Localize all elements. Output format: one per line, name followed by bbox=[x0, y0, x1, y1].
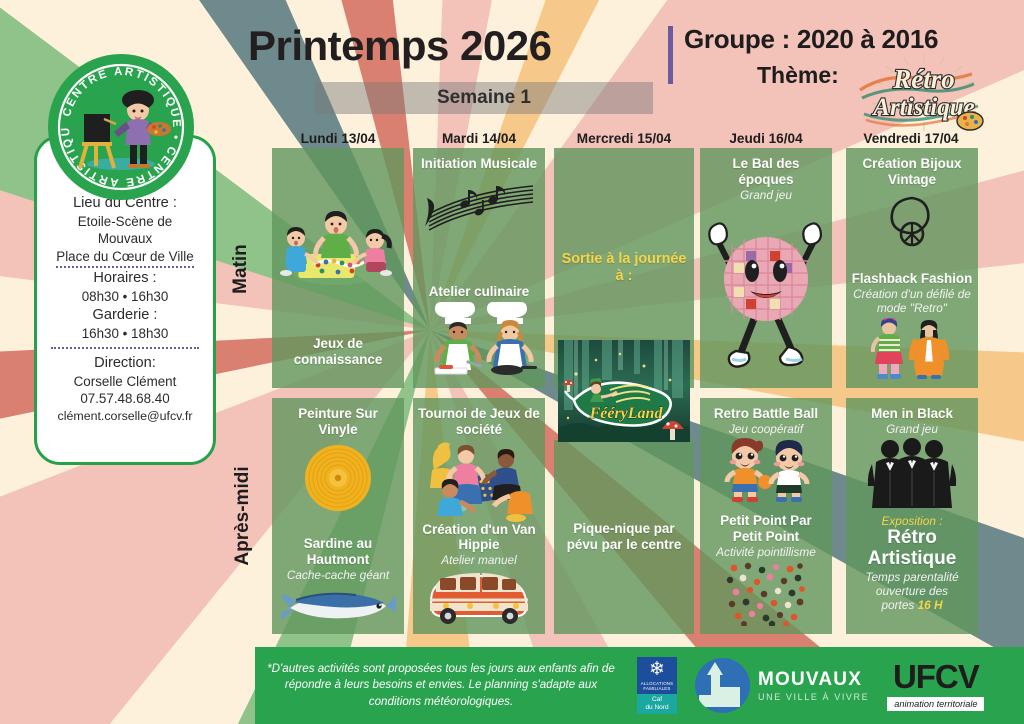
caf-line4: du Nord bbox=[637, 704, 677, 711]
activity-title-mardi-matin-a: Initiation Musicale bbox=[421, 156, 537, 172]
activity-title-vendredi-matin-b: Flashback Fashion bbox=[852, 271, 973, 287]
info-direction-email: clément.corselle@ufcv.fr bbox=[43, 408, 207, 424]
cell-vendredi-matin[interactable]: Création Bijoux Vintage Flashback Fashio… bbox=[846, 148, 978, 388]
expo-label: Exposition : bbox=[882, 514, 943, 528]
week-label: Semaine 1 bbox=[315, 82, 653, 114]
info-lieu-line3: Place du Cœur de Ville bbox=[56, 248, 193, 268]
retro-artistique-logo-icon: Rétro Artistique bbox=[846, 52, 1002, 134]
caf-line2: FAMILIALES bbox=[643, 686, 670, 691]
activity-title-lundi-matin: Jeux de connaissance bbox=[277, 336, 399, 368]
activity-sub-vendredi-am-a: Grand jeu bbox=[886, 422, 938, 436]
expo-sub3-line: portes 16 H bbox=[882, 598, 943, 612]
kids-board-game-icon bbox=[278, 202, 398, 290]
caf-snowflake-icon: ❄ bbox=[649, 660, 665, 679]
info-horaires-label: Horaires : bbox=[43, 269, 207, 288]
activity-title-mardi-am-b: Création d'un Van Hippie bbox=[418, 522, 540, 554]
activity-sub-jeudi-am-b: Activité pointillisme bbox=[716, 545, 816, 559]
activity-title-vendredi-matin-a: Création Bijoux Vintage bbox=[851, 156, 973, 188]
men-in-black-icon bbox=[862, 438, 962, 510]
disco-ball-icon bbox=[706, 211, 826, 371]
board-game-players-icon bbox=[418, 440, 540, 522]
mouvaux-circle-icon bbox=[695, 658, 750, 713]
footer-logos: ❄ ALLOCATIONS FAMILIALES Caf du Nord MOU… bbox=[627, 657, 1024, 714]
activity-sub-vendredi-matin-b: Création d'un défilé de mode "Retro" bbox=[851, 287, 973, 315]
activity-title-jeudi-matin: Le Bal des époques bbox=[705, 156, 827, 188]
day-header-jeudi: Jeudi 16/04 bbox=[700, 131, 832, 146]
activity-title-lundi-am-a: Peinture Sur Vinyle bbox=[277, 406, 399, 438]
activity-title-vendredi-am-a: Men in Black bbox=[871, 406, 953, 422]
mouvaux-name: MOUVAUX bbox=[758, 670, 869, 689]
footer-bar: *D'autres activités sont proposées tous … bbox=[255, 647, 1024, 724]
music-notes-icon bbox=[421, 178, 537, 234]
activity-title-mercredi-am: Pique-nique par pévu par le centre bbox=[559, 521, 689, 553]
period-label-matin: Matin bbox=[230, 224, 252, 314]
hippie-van-icon bbox=[424, 570, 534, 626]
day-header-mercredi: Mercredi 15/04 bbox=[554, 131, 694, 146]
cell-lundi-matin[interactable]: Jeux de connaissance bbox=[272, 148, 404, 388]
activity-sub-mardi-am-b: Atelier manuel bbox=[441, 553, 516, 567]
caf-logo-icon: ❄ ALLOCATIONS FAMILIALES Caf du Nord bbox=[637, 657, 677, 714]
feeryland-wordmark: FééryLand bbox=[589, 405, 664, 422]
info-lieu-line1: Etoile-Scène de bbox=[43, 213, 207, 230]
period-label-apres-midi: Après-midi bbox=[232, 451, 254, 581]
cell-mardi-apres-midi[interactable]: Tournoi de Jeux de société bbox=[413, 398, 545, 634]
retro-logo-line1: Rétro bbox=[892, 64, 955, 94]
expo-sub3: portes bbox=[882, 598, 915, 612]
activity-title-lundi-am-b: Sardine au Hautmont bbox=[277, 536, 399, 568]
activity-title-jeudi-am-a: Retro Battle Ball bbox=[714, 406, 818, 422]
day-header-vendredi: Vendredi 17/04 bbox=[840, 131, 982, 146]
ufcv-name: UFCV bbox=[893, 660, 979, 693]
poster-root: Printemps 2026 Semaine 1 Groupe : 2020 à… bbox=[0, 0, 1024, 724]
cell-vendredi-apres-midi[interactable]: Men in Black Grand jeu bbox=[846, 398, 978, 634]
theme-label: Thème: bbox=[757, 62, 839, 89]
footer-note: *D'autres activités sont proposées tous … bbox=[255, 661, 627, 710]
activity-title-jeudi-am-b: Petit Point Par Petit Point bbox=[705, 513, 827, 545]
group-label: Groupe : 2020 à 2016 bbox=[684, 24, 938, 55]
sardine-icon bbox=[280, 586, 396, 626]
expo-sub2: ouverture des bbox=[876, 584, 948, 598]
activity-title-mercredi-matin: Sortie à la journée à : bbox=[559, 251, 689, 285]
cell-lundi-apres-midi[interactable]: Peinture Sur Vinyle Sardine au Hautmont … bbox=[272, 398, 404, 634]
caf-line3: Caf bbox=[637, 696, 677, 703]
day-header-mardi: Mardi 14/04 bbox=[413, 131, 545, 146]
retro-outfits-icon bbox=[857, 318, 967, 380]
activity-sub-jeudi-matin: Grand jeu bbox=[740, 188, 792, 202]
mouvaux-tagline: UNE VILLE À VIVRE bbox=[758, 692, 869, 702]
chefs-icon bbox=[417, 302, 541, 380]
day-header-lundi: Lundi 13/04 bbox=[272, 131, 404, 146]
vinyl-record-icon bbox=[303, 443, 373, 513]
expo-sub1: Temps parentalité bbox=[865, 570, 958, 584]
info-divider bbox=[51, 347, 199, 349]
two-kids-ball-icon bbox=[713, 438, 819, 502]
ufcv-tagline: animation territoriale bbox=[887, 697, 984, 711]
page-title: Printemps 2026 bbox=[248, 22, 552, 70]
ufcv-logo-icon: UFCV animation territoriale bbox=[887, 660, 984, 711]
pointillism-dots-icon bbox=[724, 562, 808, 626]
group-accent-bar bbox=[668, 26, 673, 84]
activity-title-mardi-am-a: Tournoi de Jeux de société bbox=[418, 406, 540, 438]
cell-mardi-matin[interactable]: Initiation Musicale bbox=[413, 148, 545, 388]
info-direction-name: Corselle Clément bbox=[43, 373, 207, 390]
info-direction-phone: 07.57.48.68.40 bbox=[43, 390, 207, 407]
info-garderie-label: Garderie : bbox=[43, 306, 207, 325]
activity-sub-lundi-am-b: Cache-cache géant bbox=[287, 568, 389, 582]
cell-mercredi-apres-midi[interactable]: Pique-nique par pévu par le centre bbox=[554, 440, 694, 634]
expo-title: Rétro Artistique bbox=[851, 528, 973, 570]
info-direction-label: Direction: bbox=[43, 354, 207, 373]
cell-jeudi-matin[interactable]: Le Bal des époques Grand jeu bbox=[700, 148, 832, 388]
expo-time: 16 H bbox=[918, 598, 943, 612]
peace-necklace-icon bbox=[884, 192, 940, 250]
info-horaires-value: 08h30 • 16h30 bbox=[43, 288, 207, 305]
centre-artistique-badge-icon: CENTRE ARTISTIQUE • CENTRE ARTISTIQUE • bbox=[46, 52, 196, 202]
info-garderie-value: 16h30 • 18h30 bbox=[43, 325, 207, 342]
activity-sub-jeudi-am-a: Jeu coopératif bbox=[729, 422, 803, 436]
cell-jeudi-apres-midi[interactable]: Retro Battle Ball Jeu coopératif bbox=[700, 398, 832, 634]
info-lieu-line2: Mouvaux bbox=[43, 230, 207, 247]
mouvaux-logo-icon: MOUVAUX UNE VILLE À VIVRE bbox=[695, 658, 869, 713]
feeryland-logo-icon: FééryLand bbox=[558, 340, 690, 442]
activity-title-mardi-matin-b: Atelier culinaire bbox=[429, 284, 529, 300]
